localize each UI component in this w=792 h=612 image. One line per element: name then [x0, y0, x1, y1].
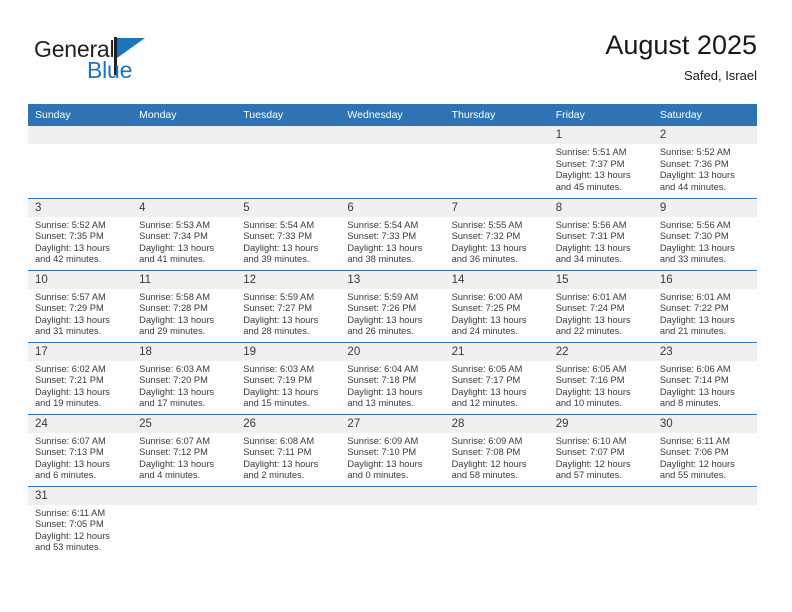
weekday-header-row: Sunday Monday Tuesday Wednesday Thursday…	[28, 104, 757, 126]
day-daylight2-text: and 57 minutes.	[556, 470, 649, 482]
day-number: 14	[445, 271, 549, 289]
day-sun-info: Sunrise: 5:52 AMSunset: 7:35 PMDaylight:…	[28, 217, 132, 266]
day-number: 6	[340, 199, 444, 217]
day-number: 13	[340, 271, 444, 289]
day-sunset-text: Sunset: 7:33 PM	[243, 231, 336, 243]
day-sunset-text: Sunset: 7:18 PM	[347, 375, 440, 387]
calendar-cell-empty	[653, 486, 757, 558]
day-sunset-text: Sunset: 7:37 PM	[556, 159, 649, 171]
calendar-day-cell[interactable]: 3Sunrise: 5:52 AMSunset: 7:35 PMDaylight…	[28, 198, 132, 270]
day-daylight1-text: Daylight: 12 hours	[452, 459, 545, 471]
day-sun-info: Sunrise: 5:53 AMSunset: 7:34 PMDaylight:…	[132, 217, 236, 266]
day-number	[132, 487, 236, 505]
calendar-cell-empty	[132, 126, 236, 198]
day-sunset-text: Sunset: 7:35 PM	[35, 231, 128, 243]
day-daylight2-text: and 28 minutes.	[243, 326, 336, 338]
calendar-week-row: 31Sunrise: 6:11 AMSunset: 7:05 PMDayligh…	[28, 486, 757, 558]
day-number: 7	[445, 199, 549, 217]
calendar-week-row: 10Sunrise: 5:57 AMSunset: 7:29 PMDayligh…	[28, 270, 757, 342]
calendar-day-cell[interactable]: 10Sunrise: 5:57 AMSunset: 7:29 PMDayligh…	[28, 270, 132, 342]
day-sunset-text: Sunset: 7:31 PM	[556, 231, 649, 243]
day-sunset-text: Sunset: 7:08 PM	[452, 447, 545, 459]
calendar-day-cell[interactable]: 23Sunrise: 6:06 AMSunset: 7:14 PMDayligh…	[653, 342, 757, 414]
day-sunrise-text: Sunrise: 5:52 AM	[660, 147, 753, 159]
calendar-day-cell[interactable]: 7Sunrise: 5:55 AMSunset: 7:32 PMDaylight…	[445, 198, 549, 270]
calendar-day-cell[interactable]: 25Sunrise: 6:07 AMSunset: 7:12 PMDayligh…	[132, 414, 236, 486]
day-sunrise-text: Sunrise: 5:58 AM	[139, 292, 232, 304]
day-number: 9	[653, 199, 757, 217]
day-sunrise-text: Sunrise: 5:54 AM	[243, 220, 336, 232]
day-sun-info: Sunrise: 6:09 AMSunset: 7:10 PMDaylight:…	[340, 433, 444, 482]
day-number: 28	[445, 415, 549, 433]
day-sunrise-text: Sunrise: 5:59 AM	[347, 292, 440, 304]
day-sunrise-text: Sunrise: 5:52 AM	[35, 220, 128, 232]
day-sunset-text: Sunset: 7:30 PM	[660, 231, 753, 243]
day-daylight1-text: Daylight: 13 hours	[660, 387, 753, 399]
weekday-header-wednesday: Wednesday	[340, 104, 444, 126]
day-sun-info: Sunrise: 6:10 AMSunset: 7:07 PMDaylight:…	[549, 433, 653, 482]
day-sunrise-text: Sunrise: 6:01 AM	[556, 292, 649, 304]
day-sunrise-text: Sunrise: 6:01 AM	[660, 292, 753, 304]
logo-word-blue: Blue	[87, 57, 132, 83]
day-daylight2-text: and 6 minutes.	[35, 470, 128, 482]
day-number	[340, 126, 444, 144]
calendar-day-cell[interactable]: 8Sunrise: 5:56 AMSunset: 7:31 PMDaylight…	[549, 198, 653, 270]
day-daylight2-text: and 58 minutes.	[452, 470, 545, 482]
calendar-day-cell[interactable]: 30Sunrise: 6:11 AMSunset: 7:06 PMDayligh…	[653, 414, 757, 486]
calendar-day-cell[interactable]: 14Sunrise: 6:00 AMSunset: 7:25 PMDayligh…	[445, 270, 549, 342]
day-sunset-text: Sunset: 7:21 PM	[35, 375, 128, 387]
day-number: 20	[340, 343, 444, 361]
day-daylight1-text: Daylight: 13 hours	[347, 243, 440, 255]
day-number: 23	[653, 343, 757, 361]
calendar-day-cell[interactable]: 29Sunrise: 6:10 AMSunset: 7:07 PMDayligh…	[549, 414, 653, 486]
calendar-day-cell[interactable]: 2Sunrise: 5:52 AMSunset: 7:36 PMDaylight…	[653, 126, 757, 198]
day-daylight2-text: and 2 minutes.	[243, 470, 336, 482]
page-header: General Blue August 2025 Safed, Israel	[28, 28, 757, 98]
day-number: 22	[549, 343, 653, 361]
general-blue-logo[interactable]: General Blue	[34, 36, 204, 92]
page-title: August 2025	[605, 28, 757, 62]
day-sunset-text: Sunset: 7:34 PM	[139, 231, 232, 243]
location-subtitle: Safed, Israel	[605, 68, 757, 84]
day-sunset-text: Sunset: 7:29 PM	[35, 303, 128, 315]
day-sunrise-text: Sunrise: 6:10 AM	[556, 436, 649, 448]
day-sunset-text: Sunset: 7:24 PM	[556, 303, 649, 315]
calendar-cell-empty	[445, 126, 549, 198]
day-number: 4	[132, 199, 236, 217]
day-daylight2-text: and 31 minutes.	[35, 326, 128, 338]
calendar-week-row: 24Sunrise: 6:07 AMSunset: 7:13 PMDayligh…	[28, 414, 757, 486]
day-number	[445, 487, 549, 505]
day-sunrise-text: Sunrise: 6:07 AM	[35, 436, 128, 448]
calendar-day-cell[interactable]: 13Sunrise: 5:59 AMSunset: 7:26 PMDayligh…	[340, 270, 444, 342]
day-sun-info: Sunrise: 6:08 AMSunset: 7:11 PMDaylight:…	[236, 433, 340, 482]
calendar-day-cell[interactable]: 26Sunrise: 6:08 AMSunset: 7:11 PMDayligh…	[236, 414, 340, 486]
day-sun-info: Sunrise: 5:58 AMSunset: 7:28 PMDaylight:…	[132, 289, 236, 338]
day-sunrise-text: Sunrise: 6:00 AM	[452, 292, 545, 304]
day-daylight1-text: Daylight: 13 hours	[556, 170, 649, 182]
day-daylight1-text: Daylight: 13 hours	[556, 243, 649, 255]
calendar-cell-empty	[132, 486, 236, 558]
day-number: 26	[236, 415, 340, 433]
day-daylight2-text: and 10 minutes.	[556, 398, 649, 410]
day-number: 2	[653, 126, 757, 144]
day-sun-info: Sunrise: 6:02 AMSunset: 7:21 PMDaylight:…	[28, 361, 132, 410]
day-sunrise-text: Sunrise: 5:53 AM	[139, 220, 232, 232]
calendar-cell-empty	[236, 126, 340, 198]
calendar-day-cell[interactable]: 4Sunrise: 5:53 AMSunset: 7:34 PMDaylight…	[132, 198, 236, 270]
day-sunrise-text: Sunrise: 6:03 AM	[243, 364, 336, 376]
day-sun-info: Sunrise: 5:52 AMSunset: 7:36 PMDaylight:…	[653, 144, 757, 193]
calendar-day-cell[interactable]: 1Sunrise: 5:51 AMSunset: 7:37 PMDaylight…	[549, 126, 653, 198]
day-sunset-text: Sunset: 7:10 PM	[347, 447, 440, 459]
day-daylight1-text: Daylight: 13 hours	[139, 315, 232, 327]
day-sun-info: Sunrise: 6:01 AMSunset: 7:22 PMDaylight:…	[653, 289, 757, 338]
day-daylight2-text: and 45 minutes.	[556, 182, 649, 194]
day-sunset-text: Sunset: 7:16 PM	[556, 375, 649, 387]
day-daylight2-text: and 19 minutes.	[35, 398, 128, 410]
day-daylight2-text: and 8 minutes.	[660, 398, 753, 410]
day-number: 15	[549, 271, 653, 289]
day-daylight1-text: Daylight: 13 hours	[660, 170, 753, 182]
day-number	[236, 487, 340, 505]
calendar-day-cell[interactable]: 19Sunrise: 6:03 AMSunset: 7:19 PMDayligh…	[236, 342, 340, 414]
day-number: 18	[132, 343, 236, 361]
weekday-header-thursday: Thursday	[445, 104, 549, 126]
calendar-day-cell[interactable]: 22Sunrise: 6:05 AMSunset: 7:16 PMDayligh…	[549, 342, 653, 414]
day-daylight2-text: and 36 minutes.	[452, 254, 545, 266]
calendar-week-row: 1Sunrise: 5:51 AMSunset: 7:37 PMDaylight…	[28, 126, 757, 198]
day-daylight2-text: and 39 minutes.	[243, 254, 336, 266]
day-sunset-text: Sunset: 7:19 PM	[243, 375, 336, 387]
calendar-day-cell[interactable]: 6Sunrise: 5:54 AMSunset: 7:33 PMDaylight…	[340, 198, 444, 270]
day-number	[132, 126, 236, 144]
day-daylight1-text: Daylight: 13 hours	[347, 459, 440, 471]
day-daylight1-text: Daylight: 13 hours	[35, 315, 128, 327]
calendar-day-cell[interactable]: 21Sunrise: 6:05 AMSunset: 7:17 PMDayligh…	[445, 342, 549, 414]
day-daylight1-text: Daylight: 13 hours	[660, 315, 753, 327]
day-sunset-text: Sunset: 7:12 PM	[139, 447, 232, 459]
day-daylight2-text: and 42 minutes.	[35, 254, 128, 266]
day-sunrise-text: Sunrise: 6:11 AM	[660, 436, 753, 448]
day-sunrise-text: Sunrise: 6:11 AM	[35, 508, 128, 520]
calendar-cell-empty	[236, 486, 340, 558]
day-sunrise-text: Sunrise: 6:04 AM	[347, 364, 440, 376]
calendar-page: General Blue August 2025 Safed, Israel S…	[0, 0, 792, 612]
day-sun-info: Sunrise: 6:01 AMSunset: 7:24 PMDaylight:…	[549, 289, 653, 338]
day-sunset-text: Sunset: 7:32 PM	[452, 231, 545, 243]
weekday-header-saturday: Saturday	[653, 104, 757, 126]
calendar-day-cell[interactable]: 28Sunrise: 6:09 AMSunset: 7:08 PMDayligh…	[445, 414, 549, 486]
day-sun-info: Sunrise: 6:00 AMSunset: 7:25 PMDaylight:…	[445, 289, 549, 338]
day-daylight2-text: and 34 minutes.	[556, 254, 649, 266]
day-sunset-text: Sunset: 7:22 PM	[660, 303, 753, 315]
day-sunset-text: Sunset: 7:26 PM	[347, 303, 440, 315]
day-number	[445, 126, 549, 144]
day-number	[340, 487, 444, 505]
day-sunrise-text: Sunrise: 5:56 AM	[556, 220, 649, 232]
calendar-day-cell[interactable]: 24Sunrise: 6:07 AMSunset: 7:13 PMDayligh…	[28, 414, 132, 486]
day-sunset-text: Sunset: 7:20 PM	[139, 375, 232, 387]
day-daylight2-text: and 38 minutes.	[347, 254, 440, 266]
day-daylight1-text: Daylight: 13 hours	[452, 387, 545, 399]
day-sunrise-text: Sunrise: 5:59 AM	[243, 292, 336, 304]
calendar-cell-empty	[445, 486, 549, 558]
calendar-day-cell[interactable]: 27Sunrise: 6:09 AMSunset: 7:10 PMDayligh…	[340, 414, 444, 486]
calendar-day-cell[interactable]: 31Sunrise: 6:11 AMSunset: 7:05 PMDayligh…	[28, 486, 132, 558]
weekday-header-monday: Monday	[132, 104, 236, 126]
day-sunrise-text: Sunrise: 6:03 AM	[139, 364, 232, 376]
day-sunrise-text: Sunrise: 5:55 AM	[452, 220, 545, 232]
day-number: 5	[236, 199, 340, 217]
day-daylight2-text: and 12 minutes.	[452, 398, 545, 410]
day-daylight1-text: Daylight: 12 hours	[660, 459, 753, 471]
day-daylight1-text: Daylight: 12 hours	[35, 531, 128, 543]
day-sunrise-text: Sunrise: 6:09 AM	[347, 436, 440, 448]
day-daylight1-text: Daylight: 13 hours	[243, 315, 336, 327]
weekday-header-sunday: Sunday	[28, 104, 132, 126]
calendar-day-cell[interactable]: 17Sunrise: 6:02 AMSunset: 7:21 PMDayligh…	[28, 342, 132, 414]
day-sunrise-text: Sunrise: 6:02 AM	[35, 364, 128, 376]
day-sunset-text: Sunset: 7:07 PM	[556, 447, 649, 459]
calendar-cell-empty	[549, 486, 653, 558]
day-daylight2-text: and 17 minutes.	[139, 398, 232, 410]
calendar-cell-empty	[340, 126, 444, 198]
day-number: 8	[549, 199, 653, 217]
day-sun-info: Sunrise: 5:51 AMSunset: 7:37 PMDaylight:…	[549, 144, 653, 193]
day-sunset-text: Sunset: 7:14 PM	[660, 375, 753, 387]
day-number: 10	[28, 271, 132, 289]
day-daylight1-text: Daylight: 13 hours	[139, 459, 232, 471]
title-block: August 2025 Safed, Israel	[605, 28, 757, 84]
day-daylight1-text: Daylight: 13 hours	[139, 387, 232, 399]
day-sunset-text: Sunset: 7:13 PM	[35, 447, 128, 459]
day-number: 3	[28, 199, 132, 217]
day-daylight2-text: and 29 minutes.	[139, 326, 232, 338]
day-daylight1-text: Daylight: 13 hours	[139, 243, 232, 255]
day-sun-info: Sunrise: 5:56 AMSunset: 7:31 PMDaylight:…	[549, 217, 653, 266]
sunrise-sunset-calendar: Sunday Monday Tuesday Wednesday Thursday…	[28, 104, 757, 558]
day-sun-info: Sunrise: 6:04 AMSunset: 7:18 PMDaylight:…	[340, 361, 444, 410]
day-sunset-text: Sunset: 7:28 PM	[139, 303, 232, 315]
day-number: 27	[340, 415, 444, 433]
day-daylight2-text: and 55 minutes.	[660, 470, 753, 482]
day-daylight2-text: and 41 minutes.	[139, 254, 232, 266]
day-daylight2-text: and 21 minutes.	[660, 326, 753, 338]
day-daylight1-text: Daylight: 13 hours	[35, 459, 128, 471]
day-daylight2-text: and 26 minutes.	[347, 326, 440, 338]
day-number	[236, 126, 340, 144]
calendar-day-cell[interactable]: 5Sunrise: 5:54 AMSunset: 7:33 PMDaylight…	[236, 198, 340, 270]
day-sun-info: Sunrise: 5:59 AMSunset: 7:26 PMDaylight:…	[340, 289, 444, 338]
day-daylight1-text: Daylight: 13 hours	[452, 243, 545, 255]
calendar-week-row: 3Sunrise: 5:52 AMSunset: 7:35 PMDaylight…	[28, 198, 757, 270]
day-sunset-text: Sunset: 7:05 PM	[35, 519, 128, 531]
day-sunrise-text: Sunrise: 6:06 AM	[660, 364, 753, 376]
day-sunset-text: Sunset: 7:06 PM	[660, 447, 753, 459]
day-sunset-text: Sunset: 7:25 PM	[452, 303, 545, 315]
day-sun-info: Sunrise: 5:56 AMSunset: 7:30 PMDaylight:…	[653, 217, 757, 266]
calendar-week-row: 17Sunrise: 6:02 AMSunset: 7:21 PMDayligh…	[28, 342, 757, 414]
day-sunrise-text: Sunrise: 6:09 AM	[452, 436, 545, 448]
day-daylight1-text: Daylight: 13 hours	[660, 243, 753, 255]
day-sunrise-text: Sunrise: 6:08 AM	[243, 436, 336, 448]
day-daylight1-text: Daylight: 13 hours	[556, 315, 649, 327]
day-sun-info: Sunrise: 6:07 AMSunset: 7:13 PMDaylight:…	[28, 433, 132, 482]
day-sunrise-text: Sunrise: 5:54 AM	[347, 220, 440, 232]
day-sunset-text: Sunset: 7:11 PM	[243, 447, 336, 459]
day-daylight2-text: and 33 minutes.	[660, 254, 753, 266]
day-daylight2-text: and 0 minutes.	[347, 470, 440, 482]
calendar-day-cell[interactable]: 18Sunrise: 6:03 AMSunset: 7:20 PMDayligh…	[132, 342, 236, 414]
day-daylight2-text: and 13 minutes.	[347, 398, 440, 410]
calendar-body: 1Sunrise: 5:51 AMSunset: 7:37 PMDaylight…	[28, 126, 757, 558]
day-number: 25	[132, 415, 236, 433]
day-number: 29	[549, 415, 653, 433]
day-daylight2-text: and 53 minutes.	[35, 542, 128, 554]
day-daylight1-text: Daylight: 12 hours	[556, 459, 649, 471]
day-number: 21	[445, 343, 549, 361]
day-daylight1-text: Daylight: 13 hours	[452, 315, 545, 327]
day-daylight2-text: and 24 minutes.	[452, 326, 545, 338]
day-number	[653, 487, 757, 505]
day-number: 1	[549, 126, 653, 144]
day-sun-info: Sunrise: 5:59 AMSunset: 7:27 PMDaylight:…	[236, 289, 340, 338]
weekday-header-friday: Friday	[549, 104, 653, 126]
calendar-day-cell[interactable]: 15Sunrise: 6:01 AMSunset: 7:24 PMDayligh…	[549, 270, 653, 342]
day-sunrise-text: Sunrise: 5:56 AM	[660, 220, 753, 232]
day-daylight2-text: and 44 minutes.	[660, 182, 753, 194]
day-sun-info: Sunrise: 6:11 AMSunset: 7:06 PMDaylight:…	[653, 433, 757, 482]
day-sunset-text: Sunset: 7:27 PM	[243, 303, 336, 315]
day-daylight1-text: Daylight: 13 hours	[347, 387, 440, 399]
day-sun-info: Sunrise: 6:07 AMSunset: 7:12 PMDaylight:…	[132, 433, 236, 482]
day-daylight1-text: Daylight: 13 hours	[347, 315, 440, 327]
day-daylight1-text: Daylight: 13 hours	[243, 459, 336, 471]
calendar-day-cell[interactable]: 12Sunrise: 5:59 AMSunset: 7:27 PMDayligh…	[236, 270, 340, 342]
day-daylight1-text: Daylight: 13 hours	[35, 387, 128, 399]
day-number	[28, 126, 132, 144]
calendar-cell-empty	[340, 486, 444, 558]
day-number: 24	[28, 415, 132, 433]
day-sun-info: Sunrise: 6:03 AMSunset: 7:20 PMDaylight:…	[132, 361, 236, 410]
day-sun-info: Sunrise: 5:57 AMSunset: 7:29 PMDaylight:…	[28, 289, 132, 338]
day-daylight2-text: and 4 minutes.	[139, 470, 232, 482]
day-daylight2-text: and 15 minutes.	[243, 398, 336, 410]
day-sunrise-text: Sunrise: 6:07 AM	[139, 436, 232, 448]
day-sun-info: Sunrise: 5:54 AMSunset: 7:33 PMDaylight:…	[340, 217, 444, 266]
calendar-day-cell[interactable]: 20Sunrise: 6:04 AMSunset: 7:18 PMDayligh…	[340, 342, 444, 414]
day-number: 16	[653, 271, 757, 289]
day-sun-info: Sunrise: 5:54 AMSunset: 7:33 PMDaylight:…	[236, 217, 340, 266]
day-sunset-text: Sunset: 7:17 PM	[452, 375, 545, 387]
day-sun-info: Sunrise: 6:03 AMSunset: 7:19 PMDaylight:…	[236, 361, 340, 410]
day-number	[549, 487, 653, 505]
day-sunrise-text: Sunrise: 5:57 AM	[35, 292, 128, 304]
blue-flag-icon	[117, 38, 145, 58]
calendar-day-cell[interactable]: 11Sunrise: 5:58 AMSunset: 7:28 PMDayligh…	[132, 270, 236, 342]
day-sunset-text: Sunset: 7:33 PM	[347, 231, 440, 243]
day-number: 19	[236, 343, 340, 361]
day-sunrise-text: Sunrise: 5:51 AM	[556, 147, 649, 159]
weekday-header-tuesday: Tuesday	[236, 104, 340, 126]
day-sunset-text: Sunset: 7:36 PM	[660, 159, 753, 171]
day-number: 30	[653, 415, 757, 433]
day-daylight1-text: Daylight: 13 hours	[243, 387, 336, 399]
day-sun-info: Sunrise: 6:06 AMSunset: 7:14 PMDaylight:…	[653, 361, 757, 410]
calendar-cell-empty	[28, 126, 132, 198]
day-sunrise-text: Sunrise: 6:05 AM	[556, 364, 649, 376]
calendar-day-cell[interactable]: 9Sunrise: 5:56 AMSunset: 7:30 PMDaylight…	[653, 198, 757, 270]
day-number: 31	[28, 487, 132, 505]
day-number: 17	[28, 343, 132, 361]
calendar-day-cell[interactable]: 16Sunrise: 6:01 AMSunset: 7:22 PMDayligh…	[653, 270, 757, 342]
day-daylight1-text: Daylight: 13 hours	[556, 387, 649, 399]
day-number: 12	[236, 271, 340, 289]
day-sun-info: Sunrise: 6:09 AMSunset: 7:08 PMDaylight:…	[445, 433, 549, 482]
day-sun-info: Sunrise: 6:05 AMSunset: 7:17 PMDaylight:…	[445, 361, 549, 410]
day-sunrise-text: Sunrise: 6:05 AM	[452, 364, 545, 376]
day-daylight1-text: Daylight: 13 hours	[35, 243, 128, 255]
day-sun-info: Sunrise: 5:55 AMSunset: 7:32 PMDaylight:…	[445, 217, 549, 266]
day-sun-info: Sunrise: 6:11 AMSunset: 7:05 PMDaylight:…	[28, 505, 132, 554]
day-number: 11	[132, 271, 236, 289]
day-sun-info: Sunrise: 6:05 AMSunset: 7:16 PMDaylight:…	[549, 361, 653, 410]
day-daylight1-text: Daylight: 13 hours	[243, 243, 336, 255]
day-daylight2-text: and 22 minutes.	[556, 326, 649, 338]
